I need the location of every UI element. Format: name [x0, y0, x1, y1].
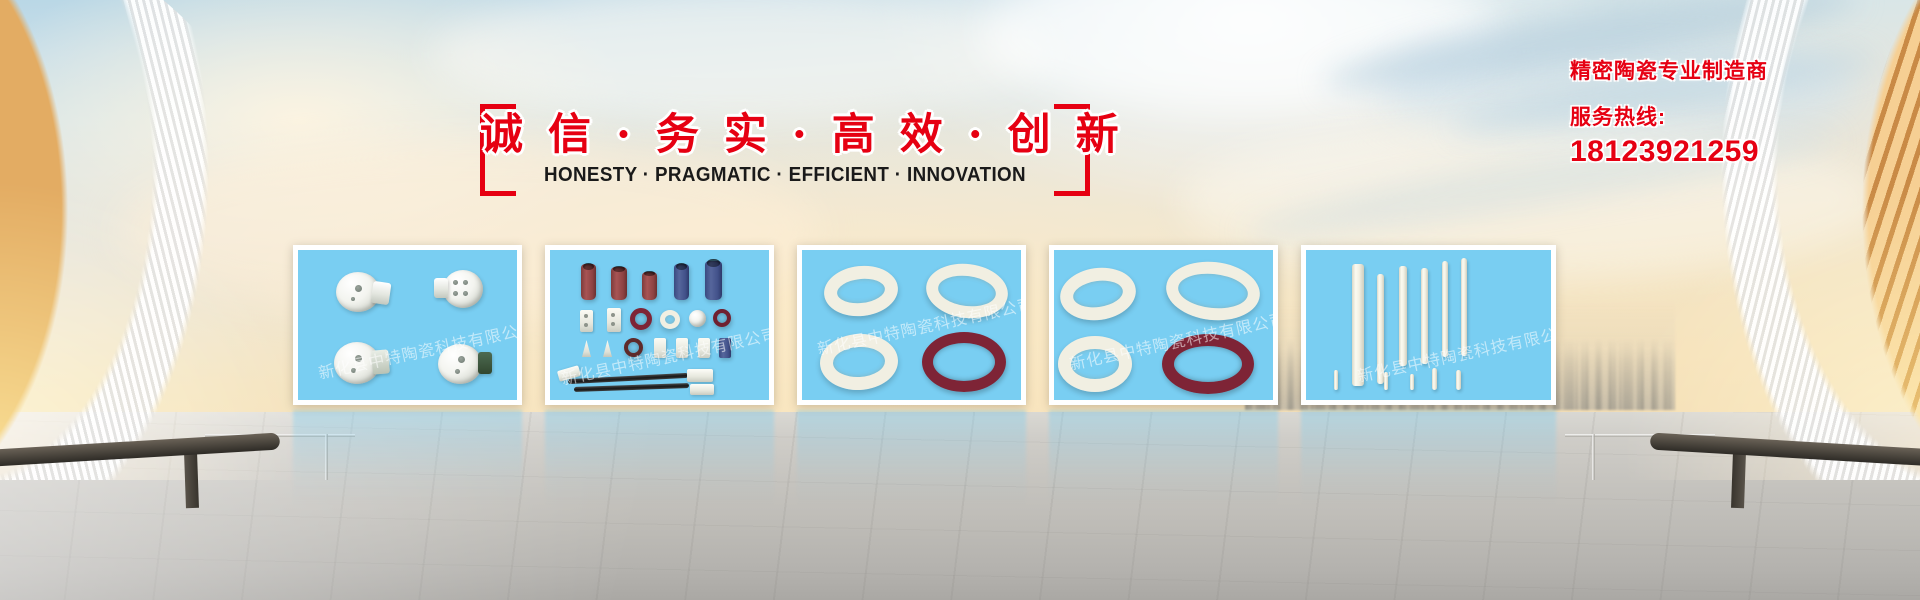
- panel-reflection: [1049, 410, 1278, 505]
- ceramic-cone: [603, 340, 612, 357]
- ceramic-pin: [1456, 370, 1461, 390]
- handrail-post: [184, 452, 199, 508]
- ceramic-ring-large: [822, 262, 901, 319]
- ceramic-pin: [1384, 372, 1388, 390]
- ceramic-socket-stub: [371, 281, 392, 305]
- slogan-block: 诚 信 · 务 实 · 高 效 · 创 新 HONESTY · PRAGMATI…: [480, 104, 1090, 196]
- handrail: [1650, 433, 1920, 469]
- product-panel-1[interactable]: 新化县中特陶瓷科技有限公司: [293, 245, 522, 405]
- ceramic-socket-stub: [434, 278, 448, 298]
- ceramic-rod: [1399, 266, 1407, 366]
- rubber-sealing-ring: [1162, 334, 1254, 394]
- panel-reflection: [293, 410, 522, 505]
- ceramic-cone: [582, 340, 591, 357]
- ceramic-rod: [1421, 268, 1428, 364]
- hero-banner: 诚 信 · 务 实 · 高 效 · 创 新 HONESTY · PRAGMATI…: [0, 0, 1920, 600]
- hotline-label: 服务热线:: [1570, 101, 1830, 131]
- product-panel-4-image: 新化县中特陶瓷科技有限公司: [1054, 250, 1273, 400]
- ceramic-ring-small: [660, 310, 680, 329]
- ceramic-chip: [676, 338, 688, 358]
- left-handrail-group: [0, 0, 310, 480]
- panel-reflection: [797, 410, 1026, 505]
- ceramic-pin: [1334, 370, 1338, 390]
- product-panel-1-image: 新化县中特陶瓷科技有限公司: [298, 250, 517, 400]
- ceramic-connector-block: [690, 384, 714, 395]
- slogan-english: HONESTY · PRAGMATIC · EFFICIENT · INNOVA…: [498, 164, 1071, 187]
- ceramic-rod: [1352, 264, 1364, 386]
- panel-reflection: [1301, 410, 1556, 505]
- product-panel-5-image: 新化县中特陶瓷科技有限公司: [1306, 250, 1551, 400]
- ceramic-disc-small: [689, 310, 706, 327]
- ceramic-socket-housing: [443, 270, 483, 308]
- ceramic-sleeve-navy: [705, 261, 722, 300]
- panel-reflection: [545, 410, 774, 505]
- rubber-o-ring: [713, 309, 731, 327]
- ceramic-rod: [1377, 274, 1384, 384]
- ceramic-ring-large: [1057, 263, 1139, 325]
- ceramic-ring-large: [819, 332, 900, 392]
- rubber-o-ring: [630, 308, 652, 330]
- ceramic-chip: [580, 310, 593, 332]
- ceramic-ring-large: [1163, 257, 1263, 325]
- product-panel-2[interactable]: 新化县中特陶瓷科技有限公司: [545, 245, 774, 405]
- ceramic-rod: [1461, 258, 1467, 356]
- ceramic-ring-large: [1058, 336, 1132, 392]
- glass-railing-post: [1592, 434, 1595, 480]
- ceramic-pin: [1410, 374, 1414, 390]
- handrail-post: [1731, 452, 1746, 508]
- company-tagline: 精密陶瓷专业制造商: [1570, 55, 1830, 85]
- wire-lead: [574, 383, 689, 392]
- ceramic-sleeve-navy: [719, 338, 731, 358]
- handrail: [0, 433, 280, 469]
- product-panel-3-image: 新化县中特陶瓷科技有限公司: [802, 250, 1021, 400]
- contact-block: 精密陶瓷专业制造商 服务热线: 18123921259: [1570, 55, 1830, 169]
- rubber-sealing-ring: [922, 332, 1006, 392]
- ceramic-connector-block: [687, 369, 713, 382]
- product-panel-4[interactable]: 新化县中特陶瓷科技有限公司: [1049, 245, 1278, 405]
- product-panel-3[interactable]: 新化县中特陶瓷科技有限公司: [797, 245, 1026, 405]
- ceramic-chip: [698, 338, 710, 358]
- hotline-number[interactable]: 18123921259: [1570, 135, 1830, 169]
- product-panel-5[interactable]: 新化县中特陶瓷科技有限公司: [1301, 245, 1556, 405]
- ceramic-chip: [654, 338, 666, 358]
- ceramic-sleeve-maroon: [611, 267, 627, 300]
- ceramic-socket-terminal: [478, 352, 492, 374]
- rubber-o-ring: [624, 338, 643, 357]
- product-panel-2-image: 新化县中特陶瓷科技有限公司: [550, 250, 769, 400]
- ceramic-pin: [1432, 368, 1437, 390]
- ceramic-sleeve-navy: [674, 264, 689, 300]
- ceramic-chip: [607, 308, 621, 332]
- ceramic-socket-housing: [438, 344, 482, 384]
- ceramic-socket-connector: [371, 349, 390, 374]
- ceramic-ring-large: [923, 259, 1011, 323]
- wire-lead: [568, 373, 688, 384]
- ceramic-rod: [1442, 261, 1448, 357]
- slogan-chinese: 诚 信 · 务 实 · 高 效 · 创 新: [480, 100, 1090, 162]
- ceramic-sleeve-maroon: [581, 264, 596, 300]
- ceramic-sleeve-maroon: [642, 272, 657, 300]
- product-panel-row: 新化县中特陶瓷科技有限公司: [0, 245, 1920, 405]
